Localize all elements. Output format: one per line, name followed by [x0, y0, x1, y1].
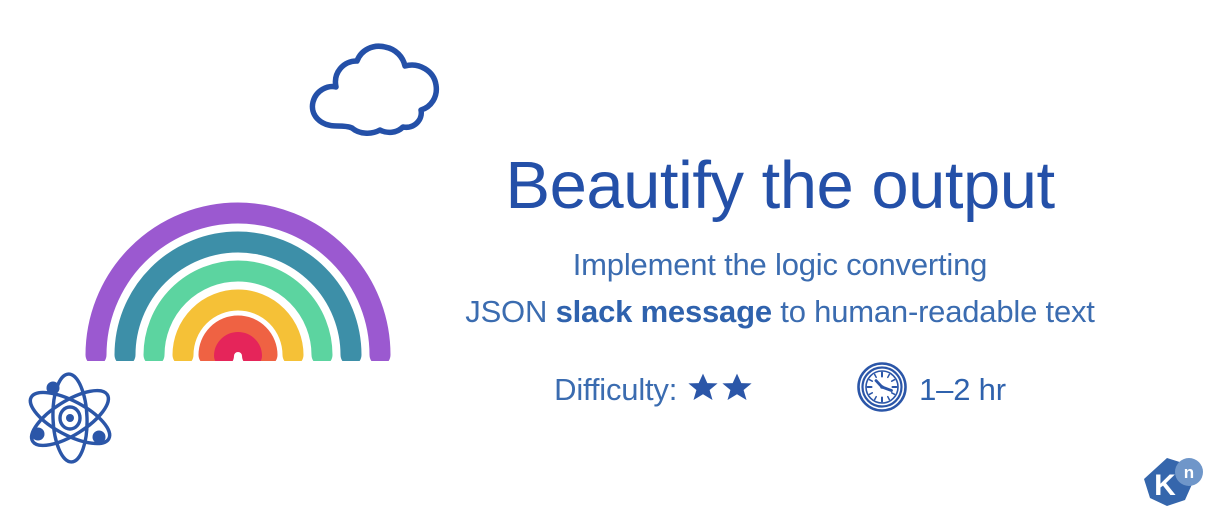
kn-logo[interactable]: K n	[1136, 455, 1208, 517]
text-content: Beautify the output Implement the logic …	[410, 150, 1150, 418]
meta-row: Difficulty:	[410, 361, 1150, 418]
clock-icon	[856, 361, 908, 418]
subtitle-highlight: slack message	[556, 294, 772, 329]
star-icon	[720, 371, 754, 410]
slide-canvas: Beautify the output Implement the logic …	[0, 0, 1216, 532]
cloud-icon	[303, 38, 448, 138]
subtitle-line-1: Implement the logic converting	[573, 247, 987, 282]
subtitle-line-2-suffix: to human-readable text	[772, 294, 1095, 329]
logo-mark-letter: K	[1154, 469, 1176, 502]
difficulty-group: Difficulty:	[554, 369, 754, 410]
star-icon	[686, 371, 720, 410]
rainbow-illustration	[78, 183, 398, 361]
duration-label: 1–2 hr	[919, 372, 1006, 408]
subtitle-line-2-prefix: JSON	[465, 294, 555, 329]
page-subtitle: Implement the logic converting JSON slac…	[410, 242, 1150, 335]
logo-badge-letter: n	[1184, 463, 1194, 482]
difficulty-rating	[686, 371, 754, 410]
atom-icon	[20, 368, 120, 468]
duration-group: 1–2 hr	[856, 361, 1006, 418]
difficulty-label: Difficulty:	[554, 372, 677, 408]
page-title: Beautify the output	[410, 150, 1150, 222]
